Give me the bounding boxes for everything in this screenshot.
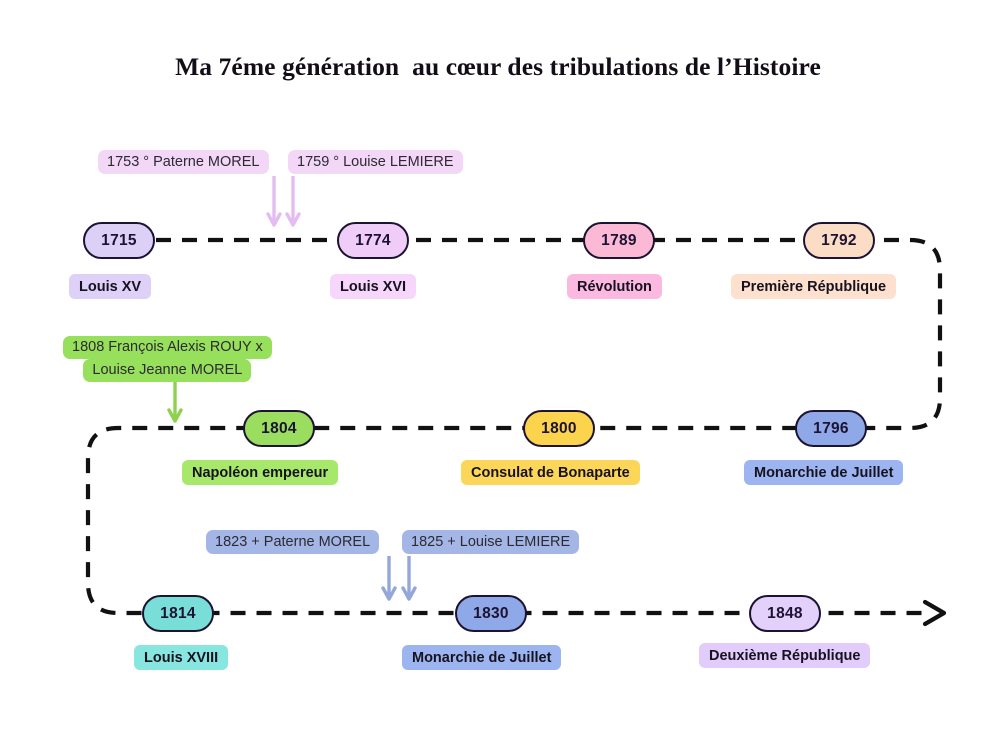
era-label-premiere-republique[interactable]: Première République	[731, 274, 896, 299]
era-label-monarchie-de-juillet-1796-text: Monarchie de Juillet	[754, 465, 893, 481]
year-pill-1800-value: 1800	[541, 420, 577, 438]
era-label-monarchie-de-juillet-1830[interactable]: Monarchie de Juillet	[402, 645, 561, 670]
death-louise-arrow	[403, 556, 415, 599]
year-pill-1804[interactable]: 1804	[243, 410, 315, 447]
era-label-napoleon-empereur-text: Napoléon empereur	[192, 465, 328, 481]
era-label-louis-xviii-text: Louis XVIII	[144, 650, 218, 666]
era-label-consulat-de-bonaparte-text: Consulat de Bonaparte	[471, 465, 630, 481]
timeline-end-arrowhead	[925, 602, 944, 624]
annotation-death-paterne-text: 1823 + Paterne MOREL	[215, 534, 370, 550]
year-pill-1774[interactable]: 1774	[337, 222, 409, 259]
era-label-premiere-republique-text: Première République	[741, 279, 886, 295]
year-pill-1796[interactable]: 1796	[795, 410, 867, 447]
annotation-marriage-rouy-morel[interactable]: 1808 François Alexis ROUY x Louise Jeann…	[63, 336, 272, 382]
death-paterne-arrow	[383, 556, 395, 599]
era-label-louis-xvi-text: Louis XVI	[340, 279, 406, 295]
era-label-louis-xv-text: Louis XV	[79, 279, 141, 295]
era-label-napoleon-empereur[interactable]: Napoléon empereur	[182, 460, 338, 485]
year-pill-1789[interactable]: 1789	[583, 222, 655, 259]
era-label-deuxieme-republique[interactable]: Deuxième République	[699, 643, 870, 668]
year-pill-1792-value: 1792	[821, 232, 857, 250]
year-pill-1774-value: 1774	[355, 232, 391, 250]
annotation-death-louise[interactable]: 1825 + Louise LEMIERE	[402, 530, 579, 554]
era-label-monarchie-de-juillet-1830-text: Monarchie de Juillet	[412, 650, 551, 666]
year-pill-1848-value: 1848	[767, 605, 803, 623]
year-pill-1715-value: 1715	[101, 232, 137, 250]
annotation-birth-paterne-text: 1753 ° Paterne MOREL	[107, 154, 260, 170]
era-label-louis-xv[interactable]: Louis XV	[69, 274, 151, 299]
year-pill-1789-value: 1789	[601, 232, 637, 250]
era-label-louis-xviii[interactable]: Louis XVIII	[134, 645, 228, 670]
year-pill-1830-value: 1830	[473, 605, 509, 623]
year-pill-1814-value: 1814	[160, 605, 196, 623]
year-pill-1804-value: 1804	[261, 420, 297, 438]
annotation-marriage-line-1: 1808 François Alexis ROUY x	[63, 336, 272, 359]
era-label-revolution[interactable]: Révolution	[567, 274, 662, 299]
timeline-canvas: Ma 7éme génération au cœur des tribulati…	[0, 0, 996, 744]
era-label-louis-xvi[interactable]: Louis XVI	[330, 274, 416, 299]
year-pill-1715[interactable]: 1715	[83, 222, 155, 259]
era-label-revolution-text: Révolution	[577, 279, 652, 295]
era-label-deuxieme-republique-text: Deuxième République	[709, 648, 860, 664]
annotation-birth-louise-text: 1759 ° Louise LEMIERE	[297, 154, 454, 170]
birth-paterne-arrow	[268, 176, 280, 225]
year-pill-1848[interactable]: 1848	[749, 595, 821, 632]
annotation-death-paterne[interactable]: 1823 + Paterne MOREL	[206, 530, 379, 554]
era-label-consulat-de-bonaparte[interactable]: Consulat de Bonaparte	[461, 460, 640, 485]
annotation-marriage-line-2: Louise Jeanne MOREL	[83, 359, 251, 382]
year-pill-1792[interactable]: 1792	[803, 222, 875, 259]
year-pill-1830[interactable]: 1830	[455, 595, 527, 632]
year-pill-1796-value: 1796	[813, 420, 849, 438]
annotation-death-louise-text: 1825 + Louise LEMIERE	[411, 534, 570, 550]
era-label-monarchie-de-juillet-1796[interactable]: Monarchie de Juillet	[744, 460, 903, 485]
birth-louise-arrow	[287, 176, 299, 225]
year-pill-1800[interactable]: 1800	[523, 410, 595, 447]
year-pill-1814[interactable]: 1814	[142, 595, 214, 632]
annotation-birth-paterne[interactable]: 1753 ° Paterne MOREL	[98, 150, 269, 174]
annotation-birth-louise[interactable]: 1759 ° Louise LEMIERE	[288, 150, 463, 174]
